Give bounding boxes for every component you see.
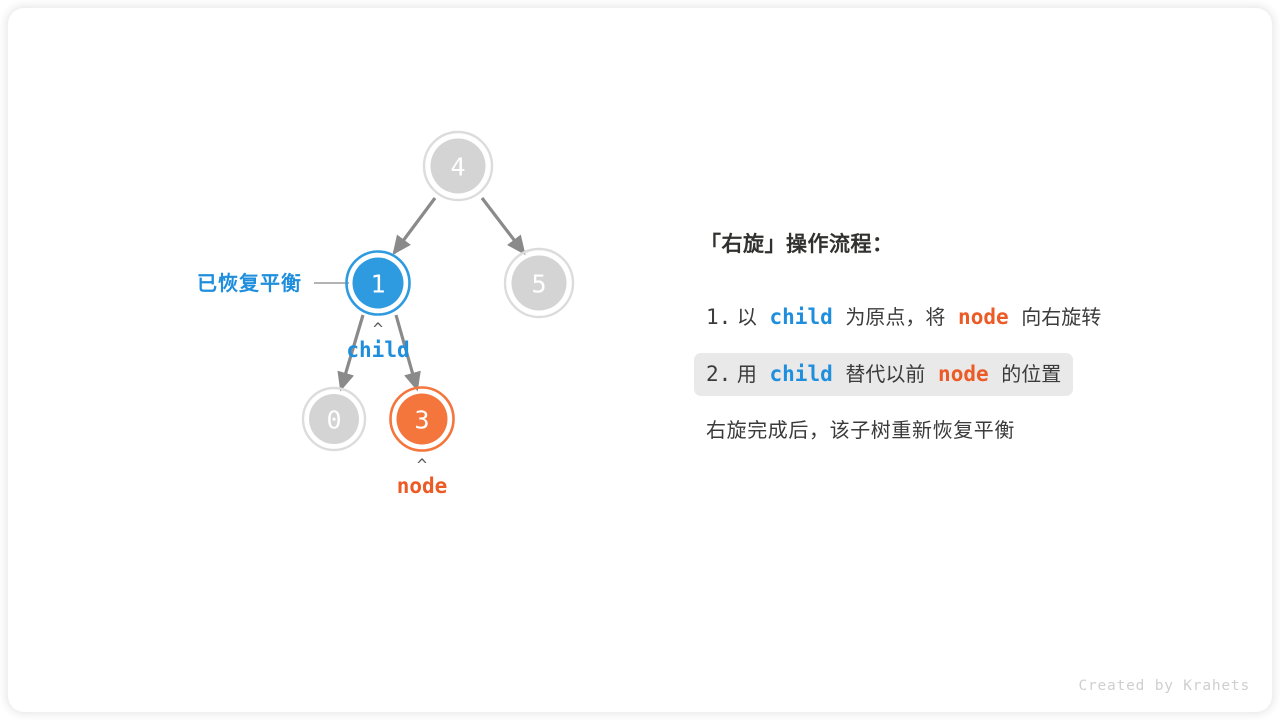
tree-node-3[interactable]: 3 xyxy=(391,388,454,451)
step-1-after: 向右旋转 xyxy=(1021,307,1101,329)
watermark-credit: Created by Krahets xyxy=(1078,678,1250,694)
step-2-before: 用 xyxy=(737,364,757,386)
illustration-card: 4 5 0 1 3 ^ child xyxy=(8,8,1272,712)
edge-4-1 xyxy=(394,198,435,253)
node-value: 0 xyxy=(326,406,341,435)
step-2-keyword-child: child xyxy=(770,362,833,386)
node-value: 4 xyxy=(450,153,465,182)
node-value: 5 xyxy=(531,270,546,299)
explanation-panel: 「右旋」操作流程： 1. 以 child 为原点，将 node 向右旋转 2. … xyxy=(698,228,1218,443)
tree-node-5[interactable]: 5 xyxy=(505,249,573,317)
step-2-row: 2. 用 child 替代以前 node 的位置 xyxy=(694,353,1218,396)
child-caret-icon: ^ xyxy=(373,320,383,340)
step-1-keyword-node: node xyxy=(958,305,1009,329)
step-2-text[interactable]: 2. 用 child 替代以前 node 的位置 xyxy=(694,353,1073,396)
node-value: 3 xyxy=(414,406,429,435)
child-pointer-label: child xyxy=(346,338,409,362)
step-1-before: 以 xyxy=(737,307,757,329)
step-2-keyword-node: node xyxy=(938,362,989,386)
node-caret-icon: ^ xyxy=(417,456,427,476)
step-1-row: 1. 以 child 为原点，将 node 向右旋转 xyxy=(694,296,1218,339)
step-1-keyword-child: child xyxy=(770,305,833,329)
tree-node-0[interactable]: 0 xyxy=(303,388,365,450)
node-value: 1 xyxy=(370,270,385,299)
panel-note: 右旋完成后，该子树重新恢复平衡 xyxy=(706,414,1218,443)
step-2-index: 2. xyxy=(706,362,731,386)
step-1-index: 1. xyxy=(706,305,731,329)
step-2-after: 的位置 xyxy=(1001,364,1061,386)
step-2-middle: 替代以前 xyxy=(845,364,925,386)
step-1-text: 1. 以 child 为原点，将 node 向右旋转 xyxy=(694,296,1113,339)
balanced-annotation-label: 已恢复平衡 xyxy=(197,271,302,295)
step-1-middle: 为原点，将 xyxy=(845,307,945,329)
panel-title: 「右旋」操作流程： xyxy=(700,228,1218,258)
tree-node-4[interactable]: 4 xyxy=(424,132,492,200)
edge-4-5 xyxy=(482,198,524,253)
tree-node-1[interactable]: 1 xyxy=(347,252,410,315)
node-pointer-label: node xyxy=(397,474,448,498)
pointer-node: ^ node xyxy=(397,456,448,498)
